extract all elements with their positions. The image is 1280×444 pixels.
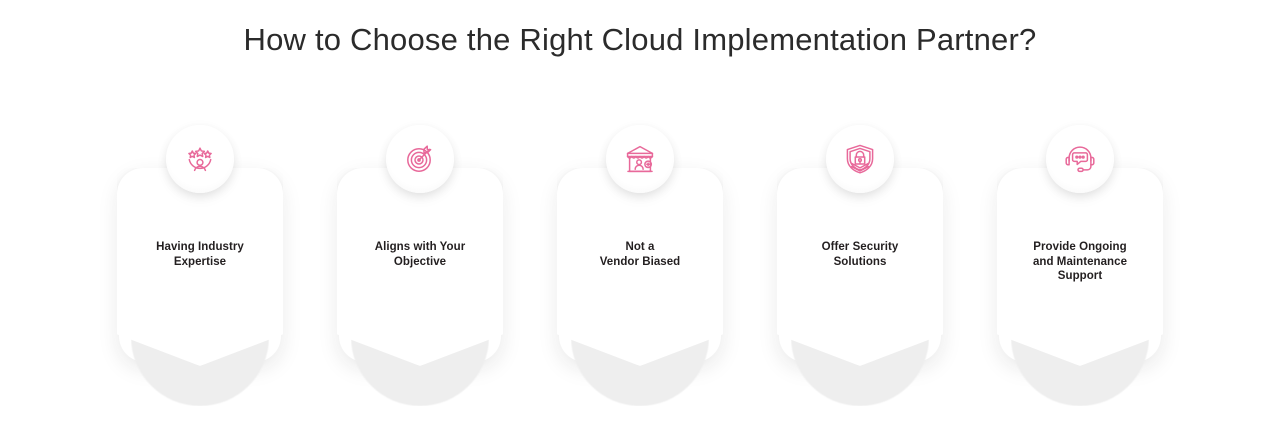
- card-label: Offer Security Solutions: [777, 240, 943, 269]
- card-label-line: Provide Ongoing: [997, 240, 1163, 255]
- shield-lock-icon: [831, 130, 889, 188]
- card-label-line: Having Industry: [117, 240, 283, 255]
- card-label-line: Objective: [337, 255, 503, 270]
- card-row: Having Industry Expertise: [0, 128, 1280, 428]
- person-three-stars-icon: [171, 130, 229, 188]
- card-label: Not a Vendor Biased: [557, 240, 723, 269]
- card-label-line: Solutions: [777, 255, 943, 270]
- card-offer-security-solutions[interactable]: Offer Security Solutions: [777, 128, 943, 418]
- card-label-line: Vendor Biased: [557, 255, 723, 270]
- card-aligns-with-your-objective[interactable]: Aligns with Your Objective: [337, 128, 503, 418]
- card-label: Aligns with Your Objective: [337, 240, 503, 269]
- card-provide-ongoing-and-maintenance-support[interactable]: Provide Ongoing and Maintenance Support: [997, 128, 1163, 418]
- vendor-shop-stall-icon: [611, 130, 669, 188]
- headset-support-icon: [1051, 130, 1109, 188]
- card-label: Having Industry Expertise: [117, 240, 283, 269]
- card-label-line: Aligns with Your: [337, 240, 503, 255]
- card-label-line: Support: [997, 269, 1163, 284]
- target-dart-icon: [391, 130, 449, 188]
- card-not-a-vendor-biased[interactable]: Not a Vendor Biased: [557, 128, 723, 418]
- card-label: Provide Ongoing and Maintenance Support: [997, 240, 1163, 284]
- card-having-industry-expertise[interactable]: Having Industry Expertise: [117, 128, 283, 418]
- card-label-line: Expertise: [117, 255, 283, 270]
- card-label-line: Offer Security: [777, 240, 943, 255]
- infographic-root: How to Choose the Right Cloud Implementa…: [0, 0, 1280, 444]
- page-title: How to Choose the Right Cloud Implementa…: [0, 22, 1280, 58]
- card-label-line: Not a: [557, 240, 723, 255]
- card-label-line: and Maintenance: [997, 255, 1163, 270]
